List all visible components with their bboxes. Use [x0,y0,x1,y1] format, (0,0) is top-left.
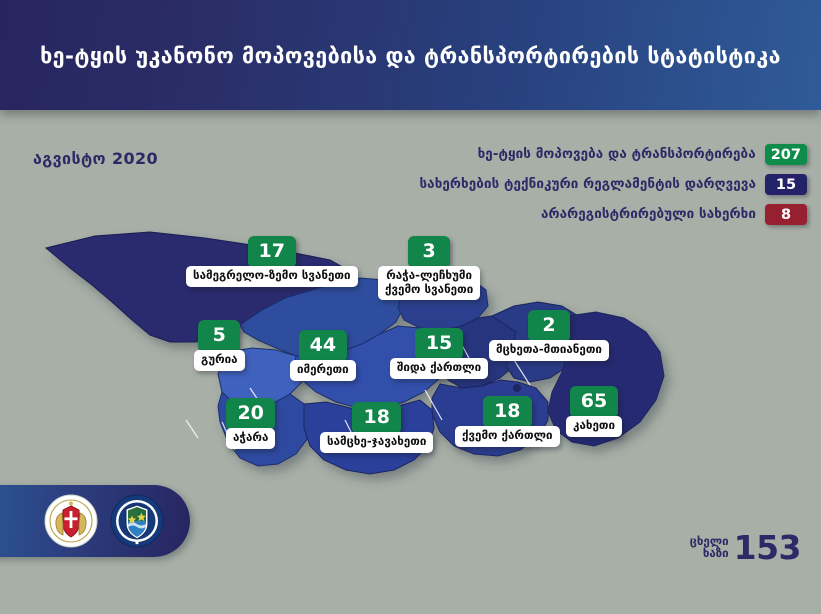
region-name: სამეგრელო-ზემო სვანეთი [186,266,358,287]
region-name: კახეთი [566,416,622,437]
region-value: 20 [226,398,274,430]
region-value: 3 [408,236,450,268]
region-name: მცხეთა-მთიანეთი [489,340,609,361]
region-value: 44 [299,330,347,362]
page-title: ხე-ტყის უკანონო მოპოვებისა და ტრანსპორტი… [0,44,821,69]
callout-imereti: 44 იმერეთი [290,330,356,381]
region-value: 65 [570,386,618,418]
hotline-number: 153 [734,528,801,567]
callout-racha: 3 რაჭა-ლეჩხუმი ქვემო სვანეთი [378,236,480,300]
callout-adjara: 20 აჭარა [226,398,275,449]
region-value: 5 [198,320,240,352]
callout-shida-kartli: 15 შიდა ქართლი [390,328,488,379]
hotline-word-2: ხაზი [690,548,729,560]
region-name-line-2: ქვემო სვანეთი [385,282,473,296]
region-name: სამცხე-ჯავახეთი [320,432,433,453]
region-value: 18 [483,396,531,428]
region-value: 2 [528,310,570,342]
region-name: აჭარა [226,428,275,449]
page-header: ხე-ტყის უკანონო მოპოვებისა და ტრანსპორტი… [0,0,821,110]
region-name: ქვემო ქართლი [455,426,560,447]
callout-samtskhe: 18 სამცხე-ჯავახეთი [320,402,433,453]
region-name: შიდა ქართლი [390,358,488,379]
region-value: 17 [248,236,296,268]
hotline-label: ცხელი ხაზი [690,536,729,559]
region-value: 15 [415,328,463,360]
region-name: იმერეთი [290,360,356,381]
callout-samegrelo: 17 სამეგრელო-ზემო სვანეთი [186,236,358,287]
hotline: ცხელი ხაზი 153 [690,528,801,567]
state-coat-of-arms-icon [44,494,98,548]
region-name-line-1: რაჭა-ლეჩხუმი [386,268,472,282]
callout-kvemo-kartli: 18 ქვემო ქართლი [455,396,560,447]
infographic-root: ხე-ტყის უკანონო მოპოვებისა და ტრანსპორტი… [0,0,821,614]
callout-guria: 5 გურია [194,320,245,371]
region-value: 18 [352,402,400,434]
callout-kakheti: 65 კახეთი [566,386,622,437]
callout-mtskheta: 2 მცხეთა-მთიანეთი [489,310,609,361]
region-name: რაჭა-ლეჩხუმი ქვემო სვანეთი [378,266,480,300]
footer-logo-bar [0,485,190,557]
capital-marker [513,384,521,392]
region-name: გურია [194,350,245,371]
department-seal-icon [110,494,164,548]
